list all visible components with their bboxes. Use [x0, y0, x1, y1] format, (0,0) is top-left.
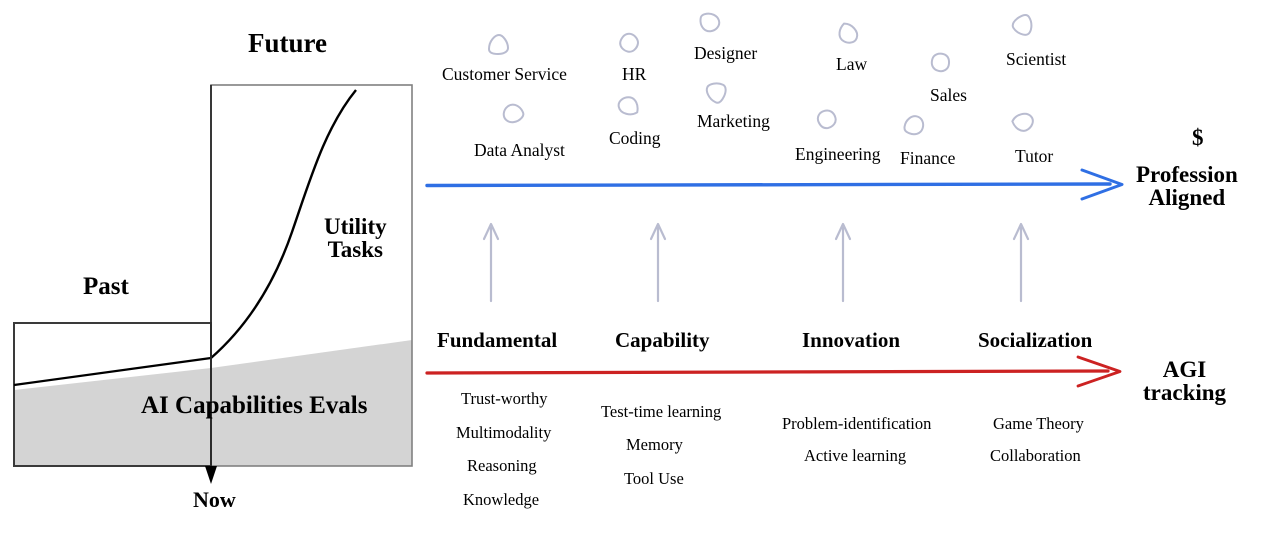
profession-bubble-icon	[837, 22, 860, 45]
profession-label: Tutor	[1015, 148, 1053, 166]
profession-aligned-line1: Profession	[1136, 163, 1238, 186]
profession-bubble-icon	[617, 96, 638, 117]
profession-bubble-icon	[500, 101, 526, 127]
capability-column-heading: Fundamental	[437, 330, 557, 351]
dollar-icon: $	[1192, 126, 1204, 149]
capability-column-heading: Socialization	[978, 330, 1092, 351]
capability-item: Knowledge	[463, 492, 539, 509]
profession-bubble-icon	[617, 31, 641, 55]
profession-label: Finance	[900, 150, 955, 168]
profession-bubble-icon	[931, 53, 950, 72]
capability-item: Reasoning	[467, 458, 537, 475]
capability-item: Active learning	[804, 448, 906, 465]
profession-label: Coding	[609, 130, 661, 148]
profession-label: Marketing	[697, 113, 770, 131]
profession-bubble-icon	[815, 108, 838, 131]
profession-label: Engineering	[795, 146, 881, 164]
profession-label: Customer Service	[442, 66, 567, 84]
profession-bubble-icon	[1010, 13, 1036, 39]
capability-item: Memory	[626, 437, 683, 454]
capability-column-heading: Capability	[615, 330, 710, 351]
profession-label: Sales	[930, 87, 967, 105]
profession-aligned-line2: Aligned	[1136, 186, 1238, 209]
agi-tracking-line2: tracking	[1143, 381, 1226, 404]
agi-tracking-line1: AGI	[1143, 358, 1226, 381]
profession-bubble-icon	[489, 35, 508, 54]
capability-item: Problem-identification	[782, 416, 931, 433]
profession-label: Data Analyst	[474, 142, 565, 160]
profession-bubble-icon	[904, 115, 925, 136]
profession-label: Law	[836, 56, 867, 74]
capability-column-heading: Innovation	[802, 330, 900, 351]
capability-item: Game Theory	[993, 416, 1084, 433]
agi-tracking-caption: AGI tracking	[1143, 358, 1226, 404]
capability-item: Multimodality	[456, 425, 551, 442]
capability-item: Test-time learning	[601, 404, 721, 421]
profession-label: Designer	[694, 45, 757, 63]
profession-aligned-caption: Profession Aligned	[1136, 163, 1238, 209]
profession-bubble-icon	[1011, 109, 1036, 134]
capability-item: Collaboration	[990, 448, 1081, 465]
capability-item: Tool Use	[624, 471, 684, 488]
profession-bubble-icon	[703, 79, 728, 104]
capability-item: Trust-worthy	[461, 391, 548, 408]
diagram-canvas: Future Past Now AI Capabilities Evals Ut…	[0, 0, 1280, 546]
profession-bubble-icon	[699, 11, 722, 33]
profession-label: HR	[622, 66, 646, 84]
profession-label: Scientist	[1006, 51, 1066, 69]
